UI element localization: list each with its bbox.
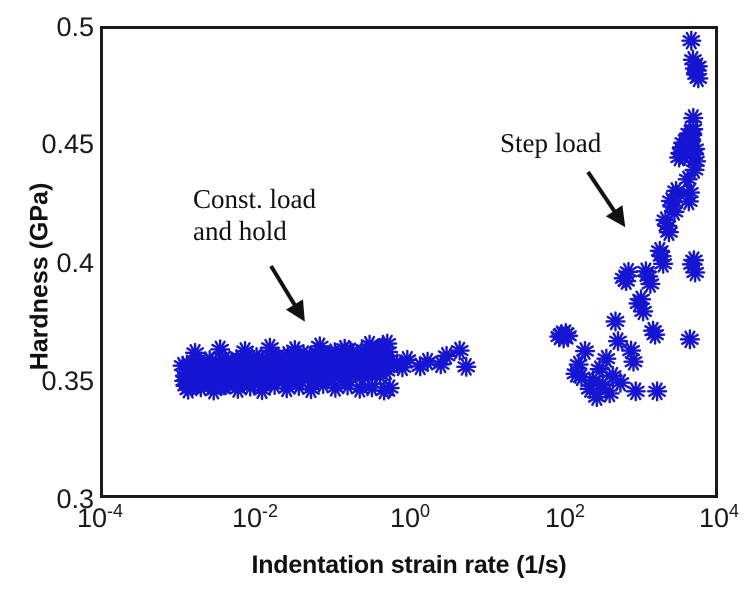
scatter-canvas: [103, 29, 715, 495]
data-point: [648, 382, 666, 400]
xtick-exp-1e-4: -4: [107, 501, 123, 521]
xtick-exp-1e0: 0: [420, 501, 430, 521]
xtick-label-1e0: 100: [390, 505, 430, 532]
xtick-exp-1e-2: -2: [262, 501, 278, 521]
ytick-label-0.4: 0.4: [56, 250, 94, 277]
xtick-exp-1e2: 2: [575, 501, 585, 521]
figure-scatter-plot: 0.5 0.45 0.4 0.35 0.3 10-4 10-2 100 102 …: [0, 0, 745, 593]
xtick-label-1e4: 104: [699, 505, 739, 532]
plot-area: [100, 26, 718, 498]
xtick-base-1e0: 10: [390, 503, 420, 533]
xtick-base-1e-4: 10: [77, 503, 107, 533]
series-step-load: [550, 32, 707, 406]
xtick-label-1e-2: 10-2: [232, 505, 278, 532]
xtick-base-1e4: 10: [699, 503, 729, 533]
data-point: [607, 313, 625, 331]
xtick-base-1e2: 10: [545, 503, 575, 533]
series-const-load-and-hold: [174, 335, 475, 400]
data-point: [684, 109, 702, 127]
annotation-const-load-and-hold: Const. load and hold: [193, 184, 316, 248]
data-point: [681, 330, 699, 348]
xtick-base-1e-2: 10: [232, 503, 262, 533]
annotation-step-load: Step load: [500, 128, 601, 160]
xtick-exp-1e4: 4: [729, 501, 739, 521]
data-point: [457, 358, 475, 376]
x-axis-label: Indentation strain rate (1/s): [100, 551, 718, 580]
xtick-label-1e2: 102: [545, 505, 585, 532]
data-point: [682, 32, 700, 50]
y-axis-label: Hardness (GPa): [26, 127, 55, 427]
xtick-label-1e-4: 10-4: [77, 505, 123, 532]
data-point: [627, 382, 645, 400]
ytick-label-0.5: 0.5: [56, 14, 94, 41]
